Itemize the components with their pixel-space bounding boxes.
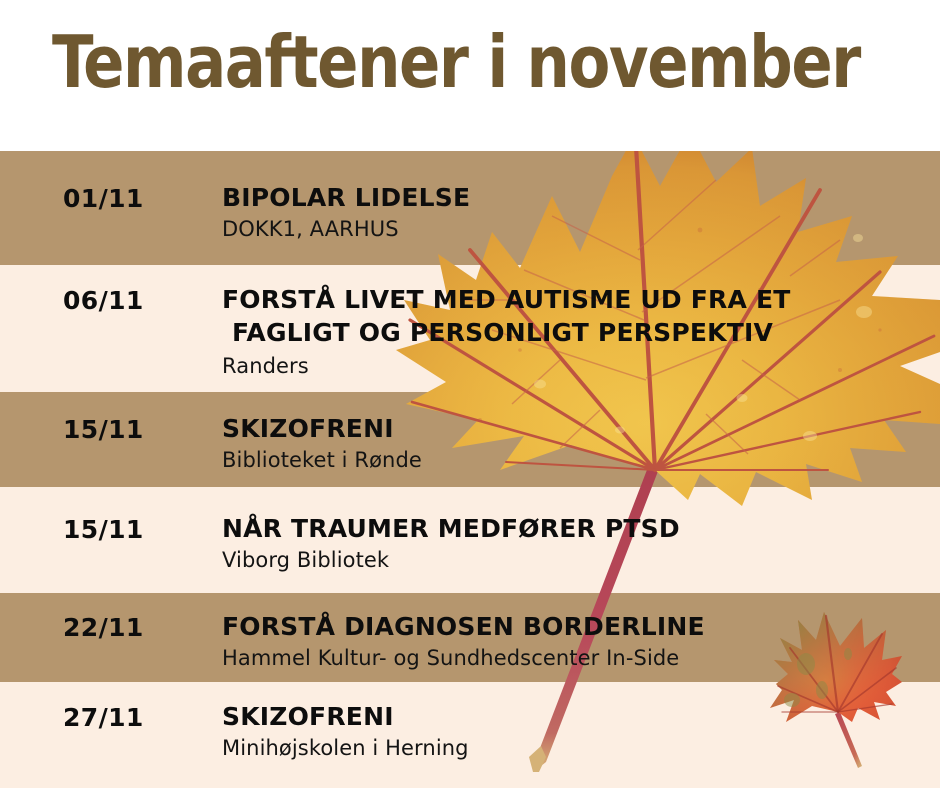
event-date: 06/11 bbox=[63, 286, 144, 315]
event-date: 01/11 bbox=[63, 184, 144, 213]
schedule-row[interactable]: 15/11 NÅR TRAUMER MEDFØRER PTSD Viborg B… bbox=[0, 487, 940, 593]
event-title-line: FORSTÅ DIAGNOSEN BORDERLINE bbox=[222, 610, 705, 643]
schedule-row[interactable]: 22/11 FORSTÅ DIAGNOSEN BORDERLINE Hammel… bbox=[0, 593, 940, 682]
event-venue: Viborg Bibliotek bbox=[222, 548, 389, 572]
event-title: SKIZOFRENI bbox=[222, 412, 394, 445]
event-venue: Biblioteket i Rønde bbox=[222, 448, 422, 472]
schedule-row[interactable]: 15/11 SKIZOFRENI Biblioteket i Rønde bbox=[0, 392, 940, 487]
event-venue: Randers bbox=[222, 354, 309, 378]
event-venue: Minihøjskolen i Herning bbox=[222, 736, 469, 760]
event-venue: DOKK1, AARHUS bbox=[222, 217, 399, 241]
event-title: SKIZOFRENI bbox=[222, 700, 394, 733]
event-venue: Hammel Kultur- og Sundhedscenter In-Side bbox=[222, 646, 679, 670]
event-date: 15/11 bbox=[63, 515, 144, 544]
poster-header: Temaaftener i november bbox=[0, 0, 940, 151]
event-date: 15/11 bbox=[63, 415, 144, 444]
event-title-line: FAGLIGT OG PERSONLIGT PERSPEKTIV bbox=[222, 316, 790, 349]
schedule-row[interactable]: 27/11 SKIZOFRENI Minihøjskolen i Herning bbox=[0, 682, 940, 788]
event-title: FORSTÅ DIAGNOSEN BORDERLINE bbox=[222, 610, 705, 643]
event-title: BIPOLAR LIDELSE bbox=[222, 181, 470, 214]
event-title-line: NÅR TRAUMER MEDFØRER PTSD bbox=[222, 512, 680, 545]
event-date: 22/11 bbox=[63, 613, 144, 642]
schedule-row[interactable]: 06/11 FORSTÅ LIVET MED AUTISME UD FRA ET… bbox=[0, 265, 940, 392]
schedule-row[interactable]: 01/11 BIPOLAR LIDELSE DOKK1, AARHUS bbox=[0, 151, 940, 265]
event-title-line: SKIZOFRENI bbox=[222, 412, 394, 445]
event-title: FORSTÅ LIVET MED AUTISME UD FRA ET FAGLI… bbox=[222, 283, 790, 349]
event-title-line: SKIZOFRENI bbox=[222, 700, 394, 733]
poster-canvas: Temaaftener i november 01/11 BIPOLAR LID… bbox=[0, 0, 940, 788]
event-date: 27/11 bbox=[63, 703, 144, 732]
event-title-line: FORSTÅ LIVET MED AUTISME UD FRA ET bbox=[222, 283, 790, 316]
event-title-line: BIPOLAR LIDELSE bbox=[222, 181, 470, 214]
page-title: Temaaftener i november bbox=[52, 26, 860, 98]
event-title: NÅR TRAUMER MEDFØRER PTSD bbox=[222, 512, 680, 545]
